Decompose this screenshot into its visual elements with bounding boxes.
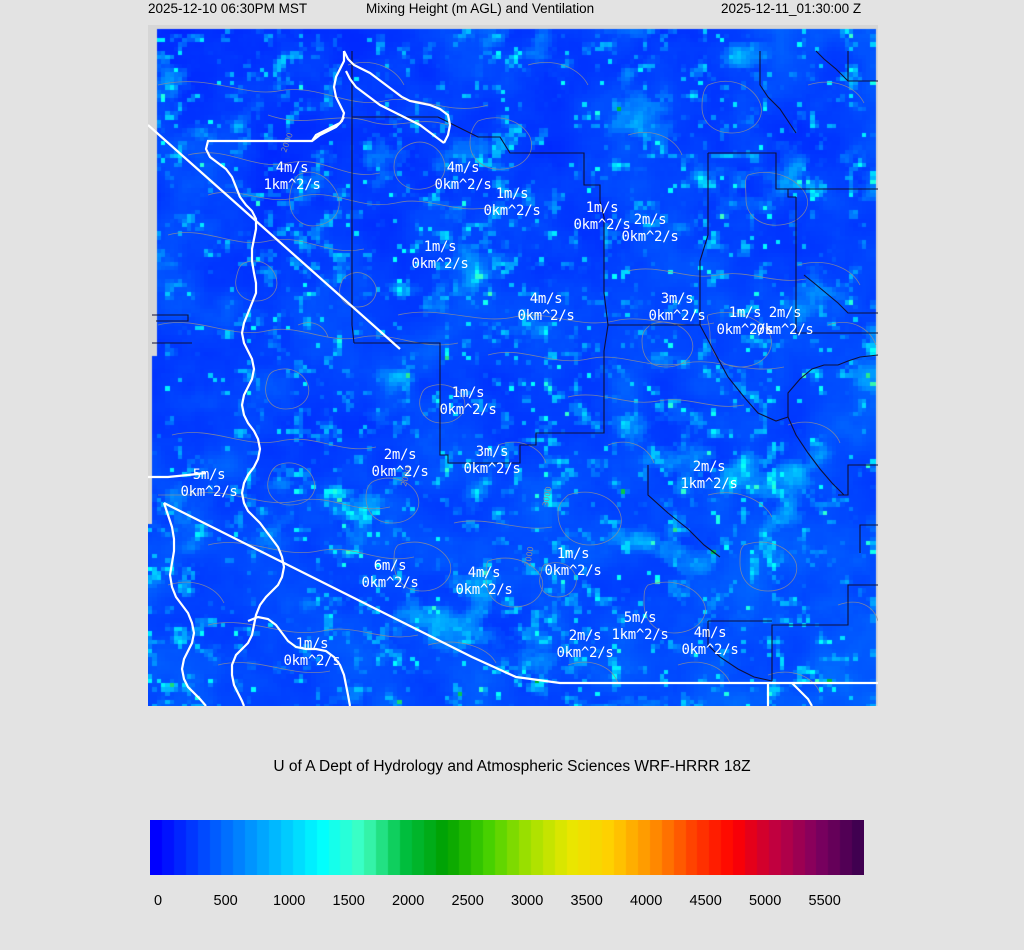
header-bar: 2025-12-10 06:30PM MST Mixing Height (m … [0, 0, 1024, 22]
contour-label-2000: 2000 [279, 131, 294, 153]
state-boundaries [148, 51, 878, 706]
colorbar-tick: 4000 [630, 893, 662, 909]
colorbar-tick: 5000 [749, 893, 781, 909]
colorbar-tick: 2500 [452, 893, 484, 909]
colorbar-tick: 3000 [511, 893, 543, 909]
colorbar-tick: 2000 [392, 893, 424, 909]
valid-time-utc: 2025-12-11_01:30:00 Z [721, 0, 861, 18]
valid-time-local: 2025-12-10 06:30PM MST [148, 0, 307, 18]
contour-label-2000: 2000 [399, 466, 413, 488]
colorbar-tick: 5500 [809, 893, 841, 909]
colorbar-tick: 3500 [571, 893, 603, 909]
colorbar-tick: 500 [214, 893, 238, 909]
colorbar-tick: 1500 [333, 893, 365, 909]
contour-label-2000: 2000 [523, 546, 535, 568]
county-boundaries [152, 51, 878, 681]
map-vector-overlay: 2000 2000 3000 2000 [148, 25, 878, 706]
map-panel[interactable]: 2000 2000 3000 2000 [148, 25, 878, 706]
contour-label-3000: 3000 [541, 486, 553, 508]
colorbar-tick: 0 [154, 893, 162, 909]
colorbar-tick-labels: 0500100015002000250030003500400045005000… [150, 893, 930, 915]
colorbar-gradient [150, 820, 864, 875]
colorbar-tick: 1000 [273, 893, 305, 909]
colorbar [150, 820, 864, 875]
contour-value-labels: 2000 2000 3000 2000 [279, 131, 553, 567]
model-attribution: U of A Dept of Hydrology and Atmospheric… [0, 758, 1024, 776]
colorbar-tick: 4500 [690, 893, 722, 909]
page-title: Mixing Height (m AGL) and Ventilation [366, 0, 594, 18]
